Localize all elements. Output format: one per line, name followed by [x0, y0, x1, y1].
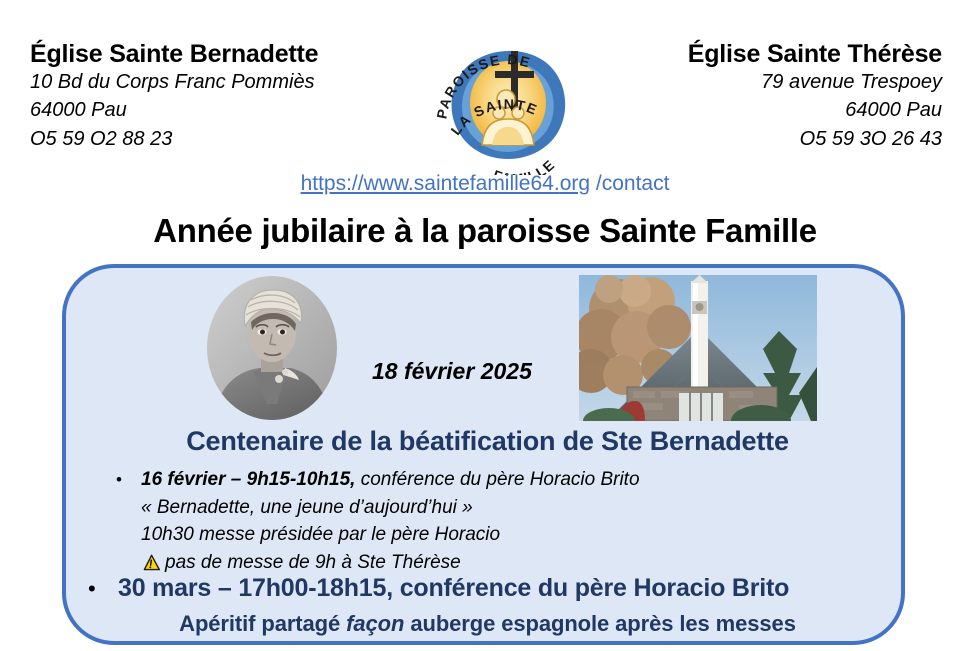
event-1-main-line: 16 février – 9h15-10h15, conférence du p… — [141, 466, 640, 494]
website-url-part2: org — [560, 172, 590, 195]
event-item-16-fevrier: • 16 février – 9h15-10h15, conférence du… — [116, 466, 640, 576]
church-name-right: Église Sainte Thérèse — [572, 40, 942, 68]
church-city-right: 64000 Pau — [572, 96, 942, 124]
bullet-icon: • — [116, 471, 141, 488]
bullet-icon: • — [88, 578, 118, 600]
church-phone-left: O5 59 O2 88 23 — [30, 125, 400, 153]
parish-logo-icon: PAROISSE DE LA SAINTE FAMILLE — [432, 27, 582, 175]
event-1-description: conférence du père Horacio Brito — [355, 469, 639, 490]
church-address-right: 79 avenue Trespoey — [572, 68, 942, 96]
event-2-time: 30 mars – 17h00-18h15 — [118, 574, 386, 602]
church-name-left: Église Sainte Bernadette — [30, 40, 400, 68]
page-title: Année jubilaire à la paroisse Sainte Fam… — [0, 212, 970, 250]
church-block-sainte-bernadette: Église Sainte Bernadette 10 Bd du Corps … — [30, 40, 400, 153]
footer-post-text: auberge espagnole après les messes — [404, 611, 795, 636]
event-1-subline-warning: pas de messe de 9h à Ste Thérèse — [141, 549, 640, 577]
website-url-path: /contact — [590, 172, 669, 195]
panel-subtitle: Centenaire de la béatification de Ste Be… — [66, 426, 909, 457]
event-1-time: 16 février – 9h15-10h15, — [141, 469, 355, 490]
church-address-left: 10 Bd du Corps Franc Pommiès — [30, 68, 400, 96]
event-2-footer-line: Apéritif partagé façon auberge espagnole… — [66, 611, 909, 637]
event-date: 18 février 2025 — [372, 358, 532, 385]
website-url-part1: https://www.saintefamille64. — [301, 172, 560, 195]
church-phone-right: O5 59 3O 26 43 — [572, 125, 942, 153]
event-2-description: , conférence du père Horacio Brito — [386, 574, 789, 602]
footer-pre-text: Apéritif partagé — [179, 611, 346, 636]
event-1-warning-text: pas de messe de 9h à Ste Thérèse — [165, 552, 461, 573]
event-2-main-line: 30 mars – 17h00-18h15, conférence du pèr… — [118, 574, 789, 603]
church-city-left: 64000 Pau — [30, 96, 400, 124]
event-1-subline-quote: « Bernadette, une jeune d’aujourd’hui » — [141, 494, 640, 522]
warning-icon — [141, 554, 160, 571]
event-item-30-mars: • 30 mars – 17h00-18h15, conférence du p… — [88, 574, 789, 603]
website-url[interactable]: https://www.saintefamille64.org /contact — [0, 172, 970, 196]
church-block-sainte-therese: Église Sainte Thérèse 79 avenue Trespoey… — [572, 40, 942, 153]
event-1-subline-mass: 10h30 messe présidée par le père Horacio — [141, 521, 640, 549]
footer-italic-text: façon — [346, 611, 404, 636]
church-photo-image — [579, 275, 817, 421]
announcement-panel: 18 février 2025 — [62, 264, 905, 645]
header: Église Sainte Bernadette 10 Bd du Corps … — [0, 0, 970, 165]
bernadette-portrait-image — [207, 276, 337, 420]
